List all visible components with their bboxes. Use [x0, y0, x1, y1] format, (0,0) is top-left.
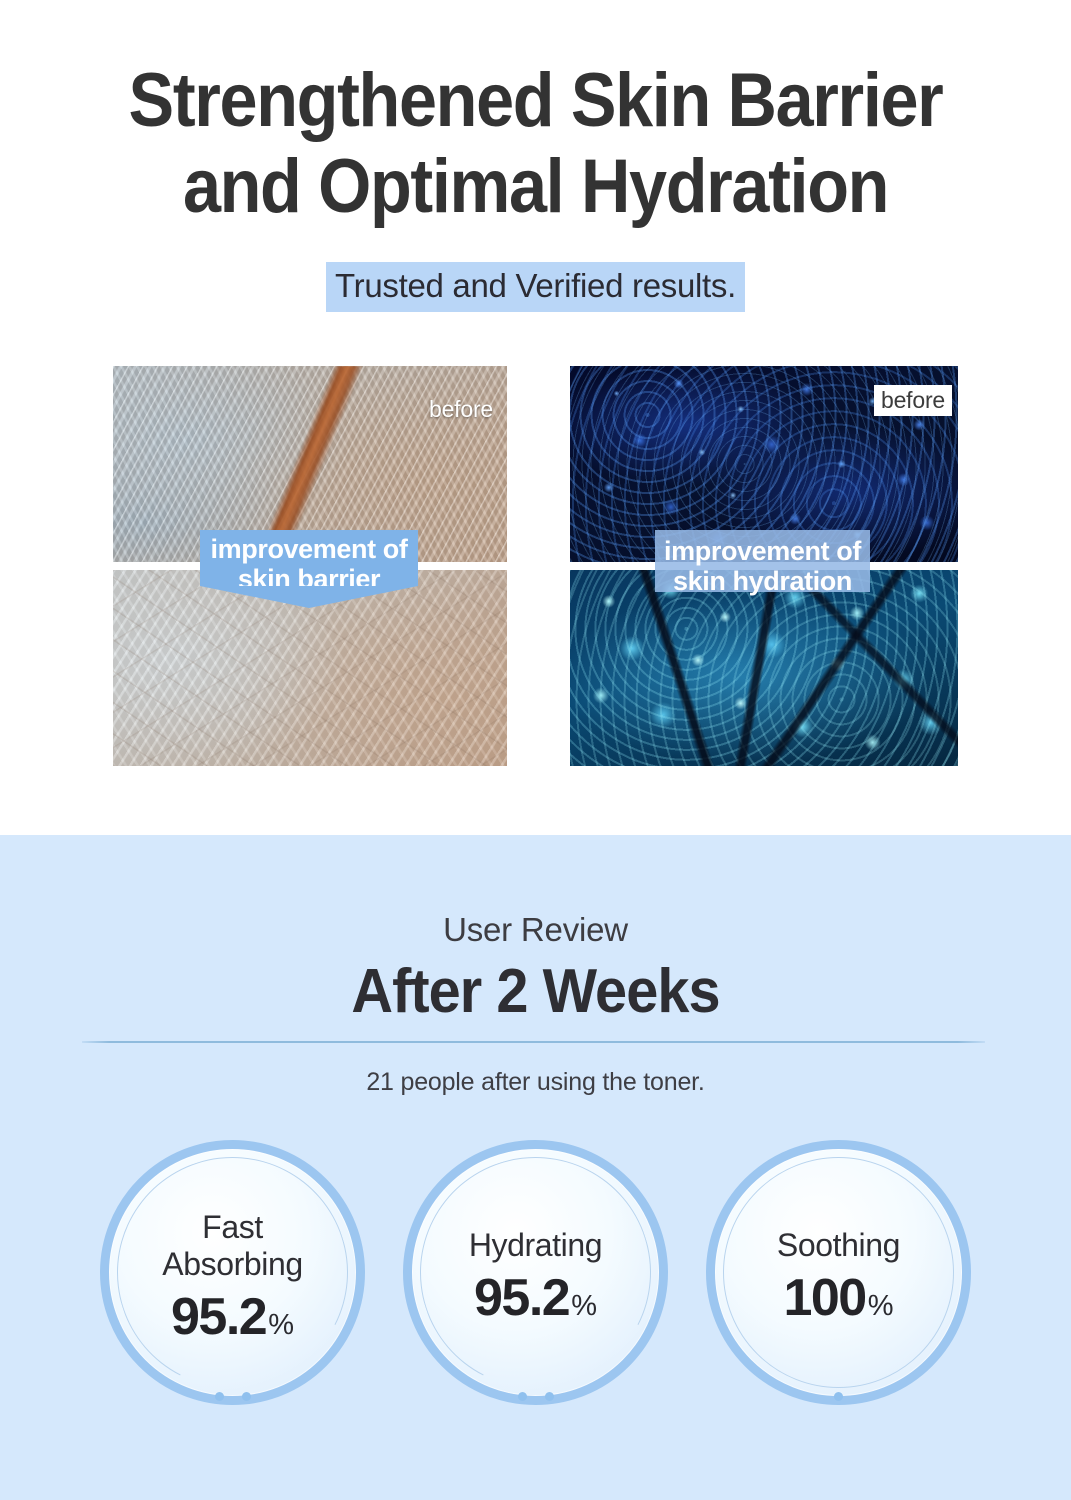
page-title: Strengthened Skin Barrier and Optimal Hy…: [54, 58, 1018, 230]
badge-skin-hydration-line-1: improvement of: [655, 536, 870, 566]
badge-skin-hydration: improvement of skin hydration: [655, 530, 870, 592]
stat-label: Fast Absorbing: [162, 1209, 303, 1283]
review-eyebrow: User Review: [0, 910, 1071, 950]
stat-unit: %: [868, 1290, 894, 1322]
user-review-section: User Review After 2 Weeks 21 people afte…: [0, 835, 1071, 1500]
product-detail-page: Strengthened Skin Barrier and Optimal Hy…: [0, 0, 1071, 1500]
stat-content: Fast Absorbing 95.2 %: [100, 1140, 365, 1405]
review-title: After 2 Weeks: [37, 953, 1033, 1031]
stat-unit: %: [571, 1290, 597, 1322]
fluorescence-texture-after: [570, 570, 958, 766]
before-label-right: before: [874, 385, 952, 416]
stat-label-line-1: Fast: [202, 1209, 263, 1245]
before-label-left: before: [429, 395, 493, 423]
after-image-skin-hydration: after: [570, 570, 958, 766]
stat-value-row: 95.2 %: [474, 1270, 597, 1326]
stat-label-line-1: Hydrating: [469, 1227, 602, 1263]
stat-value: 95.2: [474, 1270, 569, 1326]
review-divider: [82, 1041, 985, 1043]
subtitle-wrapper: Trusted and Verified results.: [0, 262, 1071, 312]
badge-skin-barrier-line-2: skin barrier: [200, 564, 418, 594]
stat-label: Hydrating: [469, 1227, 602, 1264]
subtitle-highlight: Trusted and Verified results.: [326, 262, 745, 312]
stat-label-line-1: Soothing: [777, 1227, 900, 1263]
stat-label: Soothing: [777, 1227, 900, 1264]
page-title-line-1: Strengthened Skin Barrier: [54, 58, 1018, 144]
stat-content: Hydrating 95.2 %: [403, 1140, 668, 1405]
stat-unit: %: [268, 1309, 294, 1341]
stat-value-row: 95.2 %: [171, 1289, 294, 1345]
stat-circle-hydrating: Hydrating 95.2 %: [403, 1140, 668, 1405]
stat-label-line-2: Absorbing: [162, 1246, 303, 1282]
stat-content: Soothing 100 %: [706, 1140, 971, 1405]
stat-value-row: 100 %: [783, 1270, 893, 1326]
stat-value: 100: [783, 1270, 865, 1326]
stat-circle-fast-absorbing: Fast Absorbing 95.2 %: [100, 1140, 365, 1405]
stat-circle-group: Fast Absorbing 95.2 % Hydrating: [0, 1140, 1071, 1430]
stat-value: 95.2: [171, 1289, 266, 1345]
badge-skin-hydration-line-2: skin hydration: [655, 566, 870, 596]
page-title-line-2: and Optimal Hydration: [54, 144, 1018, 230]
review-sample-note: 21 people after using the toner.: [0, 1065, 1071, 1099]
badge-skin-barrier: improvement of skin barrier: [200, 530, 418, 586]
stat-circle-soothing: Soothing 100 %: [706, 1140, 971, 1405]
badge-skin-barrier-line-1: improvement of: [200, 534, 418, 564]
hero-section: Strengthened Skin Barrier and Optimal Hy…: [0, 0, 1071, 835]
